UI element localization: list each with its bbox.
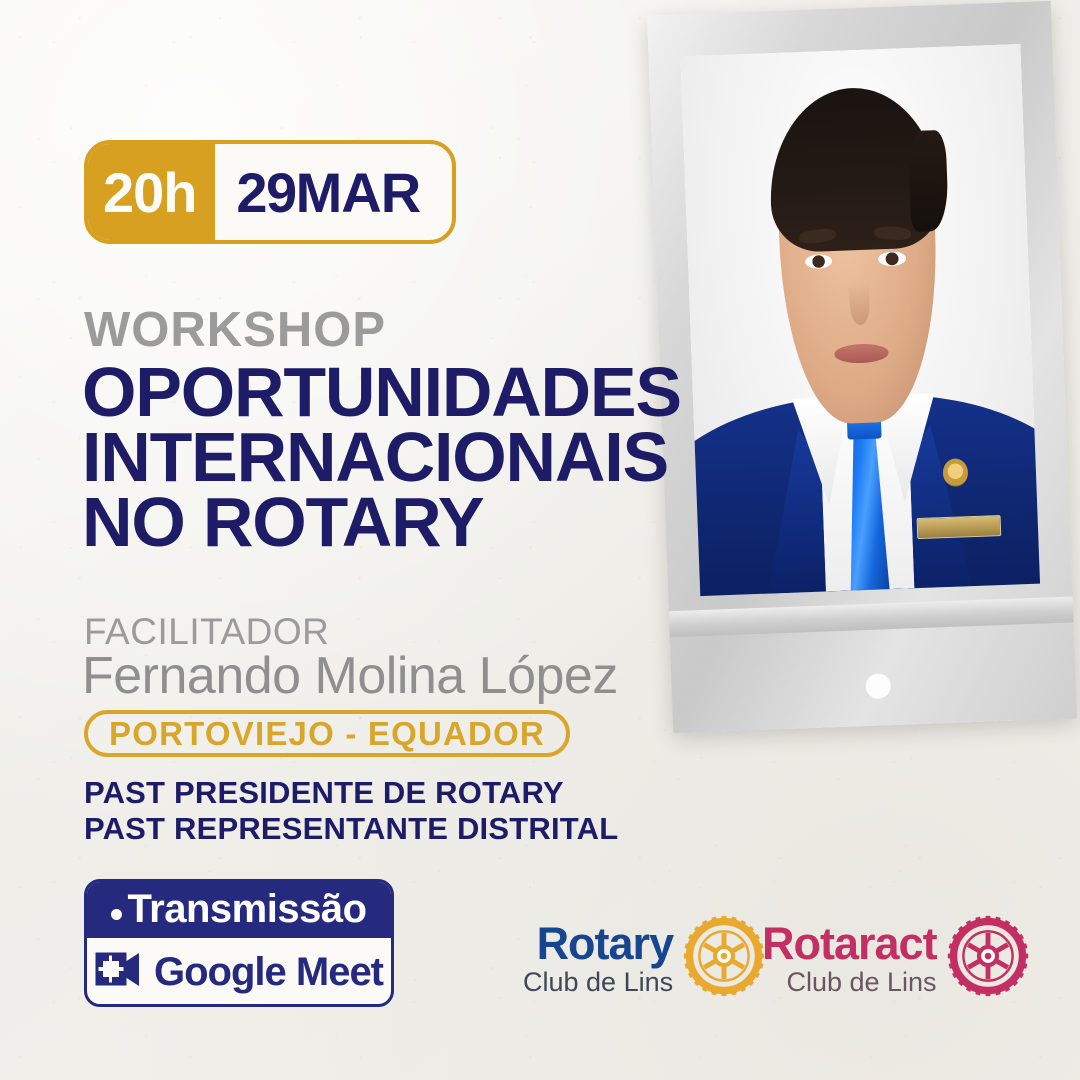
broadcast-platform-label: Google Meet (154, 950, 383, 995)
page-title: OPORTUNIDADES INTERNACIONAIS NO ROTARY (82, 360, 681, 555)
rotary-club-logo: Rotary Club de Lins (523, 915, 765, 1002)
broadcast-info-box[interactable]: Transmissão Google Meet (84, 879, 394, 1007)
title-line-2: INTERNACIONAIS (82, 425, 681, 490)
rotaract-club-text: Rotaract Club de Lins (762, 921, 937, 996)
rotary-wheel-icon (683, 915, 765, 1002)
event-month: MAR (296, 160, 421, 225)
credential-line-1: PAST PRESIDENTE DE ROTARY (84, 775, 618, 811)
rotary-club-text: Rotary Club de Lins (523, 921, 673, 996)
rotaract-club-subtitle: Club de Lins (762, 969, 937, 997)
credential-line-2: PAST REPRESENTANTE DISTRITAL (84, 811, 618, 847)
rotaract-club-logo: Rotaract Club de Lins (762, 915, 1029, 1002)
bullet-dot-icon (111, 909, 122, 920)
broadcast-title: Transmissão (127, 887, 366, 932)
date-time-badge: 20h 29MAR (84, 140, 456, 244)
event-date: 29MAR (215, 144, 453, 240)
rotary-club-subtitle: Club de Lins (523, 969, 673, 997)
rotaract-wheel-icon (947, 915, 1029, 1002)
title-line-1: OPORTUNIDADES (82, 360, 681, 425)
rotary-club-name: Rotary (523, 921, 673, 967)
broadcast-header: Transmissão (86, 881, 392, 938)
google-meet-icon (95, 950, 145, 995)
broadcast-platform-row: Google Meet (87, 938, 391, 1006)
title-line-3: NO ROTARY (82, 490, 681, 555)
rotaract-club-name: Rotaract (762, 921, 937, 967)
event-flyer: 20h 29MAR WORKSHOP OPORTUNIDADES INTERNA… (0, 0, 1080, 1080)
speaker-photo-frame (647, 1, 1077, 733)
facilitator-location-text: PORTOVIEJO - EQUADOR (109, 715, 545, 753)
speaker-portrait-image (680, 44, 1040, 596)
facilitator-credentials: PAST PRESIDENTE DE ROTARY PAST REPRESENT… (84, 775, 618, 848)
event-day: 29 (236, 160, 295, 225)
event-hour: 20h (87, 143, 215, 241)
facilitator-location-badge: PORTOVIEJO - EQUADOR (84, 710, 570, 757)
speaker-photo (680, 44, 1040, 596)
event-type-label: WORKSHOP (84, 302, 386, 358)
facilitator-name: Fernando Molina López (82, 646, 618, 706)
